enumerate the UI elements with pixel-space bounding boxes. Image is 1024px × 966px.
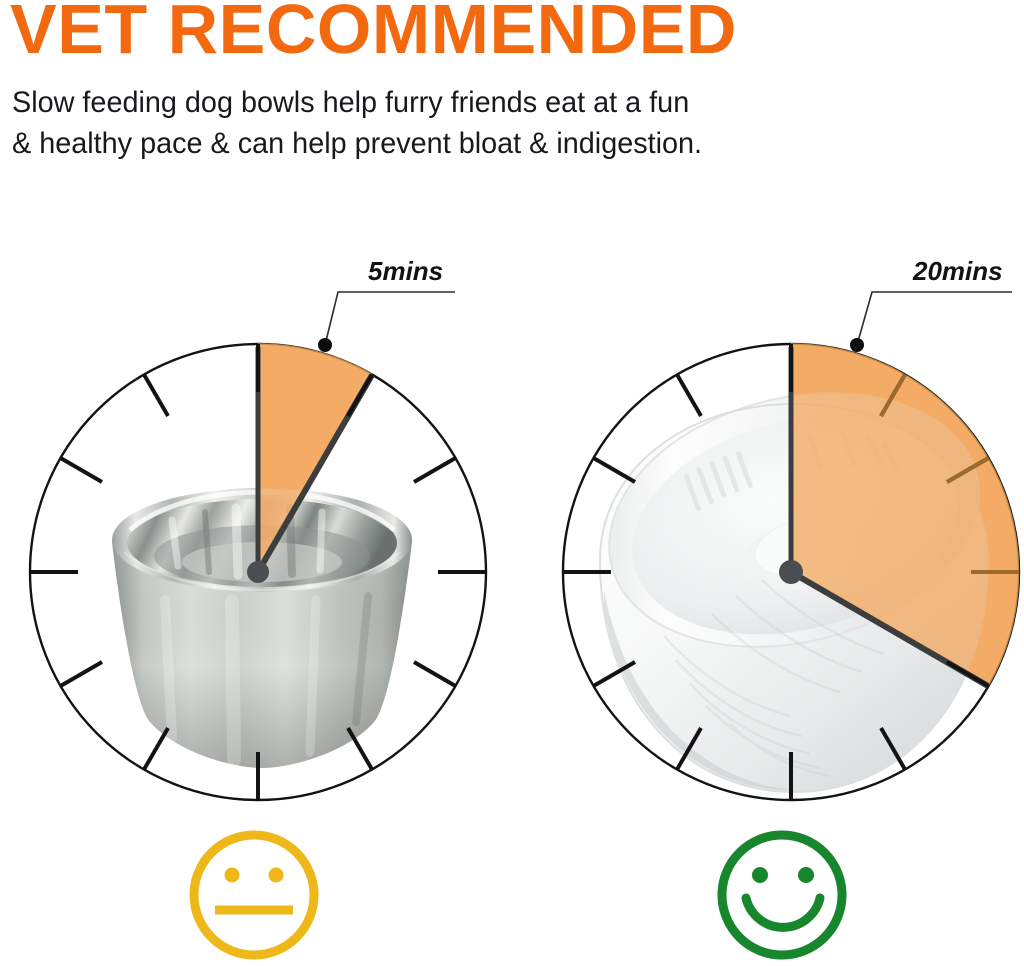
- comparison-stage: 5mins: [0, 0, 1024, 966]
- slow-feeder-gauge: 20mins: [563, 256, 1019, 800]
- callout-anchor-dot-left: [318, 338, 332, 352]
- callout-5mins: 5mins: [318, 256, 455, 352]
- happy-face-icon: [722, 835, 842, 955]
- callout-label-5mins: 5mins: [368, 256, 443, 286]
- callout-anchor-dot-right: [850, 338, 864, 352]
- callout-label-20mins: 20mins: [912, 256, 1003, 286]
- comparison-illustration: 5mins: [0, 0, 1024, 966]
- neutral-face-icon: [194, 835, 314, 955]
- callout-20mins: 20mins: [850, 256, 1012, 352]
- standard-bowl-gauge: 5mins: [30, 256, 486, 800]
